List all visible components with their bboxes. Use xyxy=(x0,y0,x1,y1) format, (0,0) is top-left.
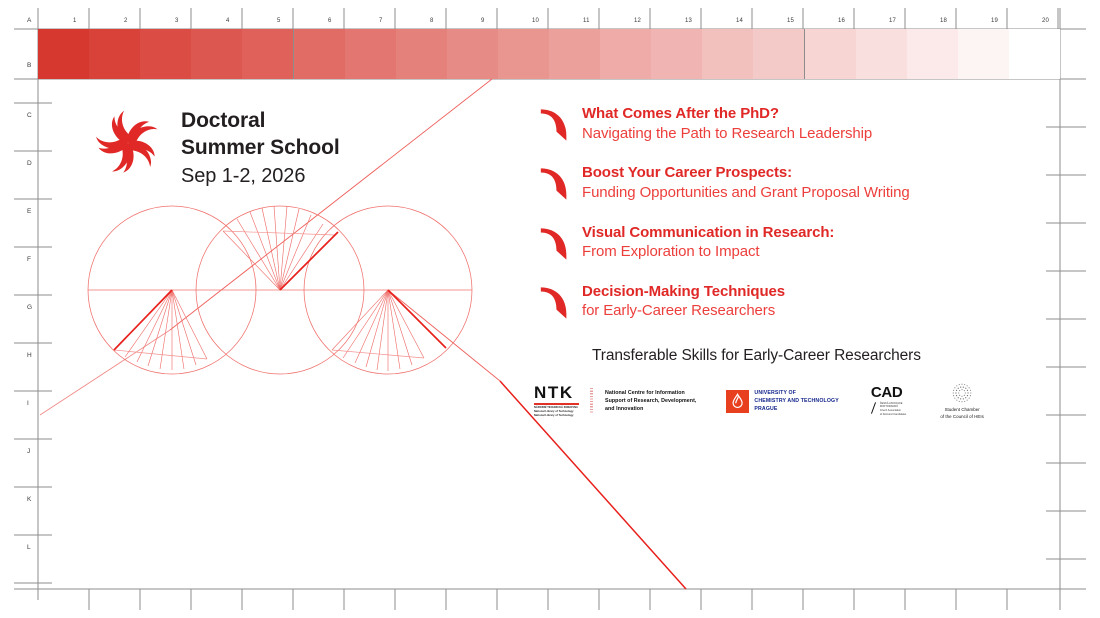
student-chamber-description: Student Chamber of the Council of HEIs xyxy=(940,406,984,420)
cad-subtext: ČESKÁ ASOCIACE DOKTORANDŮ Czech Associat… xyxy=(871,402,907,418)
cad-wordmark: CAD xyxy=(871,385,907,400)
row-label: B xyxy=(27,62,31,69)
column-label: 11 xyxy=(583,18,590,24)
gradient-segment xyxy=(1009,29,1060,79)
ntk-description: National Centre for Information Support … xyxy=(605,389,696,414)
column-label: 13 xyxy=(685,18,692,24)
session-item: Decision-Making Techniquesfor Early-Care… xyxy=(540,282,1020,321)
ntk-red-rule xyxy=(534,403,579,405)
gradient-segment xyxy=(702,29,754,79)
session-item: Boost Your Career Prospects:Funding Oppo… xyxy=(540,163,1020,202)
row-label: J xyxy=(27,448,30,455)
session-item: Visual Communication in Research:From Ex… xyxy=(540,223,1020,262)
gradient-segment xyxy=(38,29,90,79)
column-label: 5 xyxy=(277,18,281,24)
session-subtitle: for Early-Career Researchers xyxy=(582,301,785,321)
session-item: What Comes After the PhD?Navigating the … xyxy=(540,104,1020,143)
gradient-segment xyxy=(856,29,908,79)
flask-drop-icon xyxy=(726,390,749,413)
session-subtitle: Navigating the Path to Research Leadersh… xyxy=(582,124,872,144)
session-title: Decision-Making Techniques xyxy=(582,282,785,302)
gradient-segment xyxy=(140,29,192,79)
brand-lockup: Doctoral Summer School Sep 1-2, 2026 xyxy=(92,104,340,189)
column-label: 9 xyxy=(481,18,485,24)
column-label: 17 xyxy=(889,18,896,24)
row-label: C xyxy=(27,112,32,119)
column-label: 7 xyxy=(379,18,383,24)
arc-bullet-icon xyxy=(540,108,568,142)
column-label: 12 xyxy=(634,18,641,24)
brand-text-block: Doctoral Summer School Sep 1-2, 2026 xyxy=(181,104,340,189)
arc-bullet-icon xyxy=(540,286,568,320)
column-label: 20 xyxy=(1042,18,1049,24)
row-label: L xyxy=(27,544,31,551)
fan-right xyxy=(332,290,446,371)
pinwheel-swirl-logo xyxy=(92,104,164,182)
uct-description: UNIVERSITY OF CHEMISTRY AND TECHNOLOGY P… xyxy=(754,389,838,414)
column-label: 16 xyxy=(838,18,845,24)
column-label: 6 xyxy=(328,18,332,24)
session-text-block: Visual Communication in Research:From Ex… xyxy=(582,223,834,262)
gradient-segment xyxy=(907,29,959,79)
gradient-segment xyxy=(651,29,703,79)
row-label: H xyxy=(27,352,32,359)
row-label: A xyxy=(27,17,31,24)
session-subtitle: From Exploration to Impact xyxy=(582,242,834,262)
row-label: F xyxy=(27,256,31,263)
session-title: Boost Your Career Prospects: xyxy=(582,163,910,183)
session-text-block: What Comes After the PhD?Navigating the … xyxy=(582,104,872,143)
column-label: 15 xyxy=(787,18,794,24)
column-label: 3 xyxy=(175,18,179,24)
column-label: 2 xyxy=(124,18,128,24)
arc-bullet-icon xyxy=(540,167,568,201)
gradient-segment xyxy=(600,29,652,79)
gradient-segment xyxy=(805,29,857,79)
gradient-segment xyxy=(396,29,448,79)
ntk-wordmark: NTK xyxy=(534,384,580,401)
column-label: 19 xyxy=(991,18,998,24)
gradient-segment xyxy=(242,29,294,79)
event-date: Sep 1-2, 2026 xyxy=(181,163,340,189)
radial-dots-emblem xyxy=(951,382,973,404)
gradient-segment xyxy=(549,29,601,79)
session-subtitle: Funding Opportunities and Grant Proposal… xyxy=(582,183,910,203)
fan-middle xyxy=(223,206,338,290)
fan-left xyxy=(114,290,207,370)
arc-bullet-icon xyxy=(540,227,568,261)
sponsor-logo-row: NTK NÁRODNÍ TECHNICKÁ KNIHOVNA National … xyxy=(534,382,984,420)
column-label: 1 xyxy=(73,18,77,24)
sponsor-uct-prague: UNIVERSITY OF CHEMISTRY AND TECHNOLOGY P… xyxy=(726,389,838,414)
gradient-segment xyxy=(191,29,243,79)
brand-title-line1: Doctoral xyxy=(181,108,340,135)
ntk-subtext: NÁRODNÍ TECHNICKÁ KNIHOVNA National Libr… xyxy=(534,406,580,418)
sponsor-cad: CAD ČESKÁ ASOCIACE DOKTORANDŮ Czech Asso… xyxy=(871,385,907,417)
gradient-segment xyxy=(958,29,1010,79)
sponsor-ntk: NTK NÁRODNÍ TECHNICKÁ KNIHOVNA National … xyxy=(534,384,696,417)
ntk-dotted-divider xyxy=(590,388,593,414)
sponsor-student-chamber: Student Chamber of the Council of HEIs xyxy=(940,382,984,420)
session-text-block: Decision-Making Techniquesfor Early-Care… xyxy=(582,282,785,321)
row-label: I xyxy=(27,400,29,407)
tonal-red-gradient-strip xyxy=(38,29,1060,79)
row-label: D xyxy=(27,160,32,167)
brand-title-line2: Summer School xyxy=(181,135,340,162)
gradient-segment xyxy=(447,29,499,79)
gradient-segment xyxy=(498,29,550,79)
three-circles-fan-graphic xyxy=(80,205,480,385)
column-label: 4 xyxy=(226,18,230,24)
column-label: 18 xyxy=(940,18,947,24)
poster-tagline: Transferable Skills for Early-Career Res… xyxy=(592,347,921,365)
ntk-wordmark-block: NTK NÁRODNÍ TECHNICKÁ KNIHOVNA National … xyxy=(534,384,580,417)
session-text-block: Boost Your Career Prospects:Funding Oppo… xyxy=(582,163,910,202)
gradient-segment xyxy=(294,29,346,79)
session-title: Visual Communication in Research: xyxy=(582,223,834,243)
row-label: E xyxy=(27,208,31,215)
gradient-segment xyxy=(345,29,397,79)
column-label: 10 xyxy=(532,18,539,24)
gradient-segment xyxy=(89,29,141,79)
row-label: K xyxy=(27,496,31,503)
poster-canvas: 1234567891011121314151617181920 ABCDEFGH… xyxy=(0,0,1100,618)
gradient-segment xyxy=(753,29,805,79)
session-title: What Comes After the PhD? xyxy=(582,104,872,124)
session-list: What Comes After the PhD?Navigating the … xyxy=(540,104,1020,341)
column-label: 14 xyxy=(736,18,743,24)
column-label: 8 xyxy=(430,18,434,24)
row-label: G xyxy=(27,304,32,311)
